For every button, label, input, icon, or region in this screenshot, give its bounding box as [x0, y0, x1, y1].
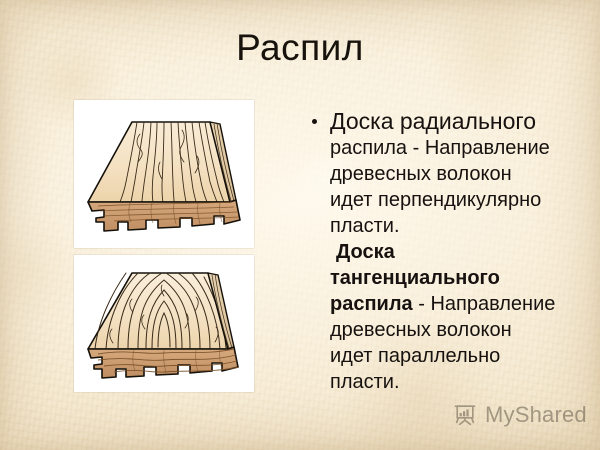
- body-line-3: древесных волокон: [330, 161, 594, 187]
- bullet-dot-icon: [312, 119, 317, 124]
- bullet-paragraph: Доска радиального распила - Направление …: [308, 108, 594, 395]
- body-line-1: Доска радиального: [330, 108, 594, 135]
- page-title: Распил: [0, 26, 600, 70]
- body-line-11: пласти.: [330, 369, 594, 395]
- watermark: MyShared: [452, 402, 587, 428]
- body-line-2: распила - Направление: [330, 135, 594, 161]
- tangential-board-illustration: [74, 255, 254, 392]
- body-line-7-bold: тангенциального: [330, 267, 500, 289]
- body-line-6: Доска: [330, 239, 594, 265]
- image-radial-sawn-board: [74, 100, 254, 248]
- slide-canvas: Распил: [0, 0, 600, 450]
- body-line-8: распила - Направление: [330, 291, 594, 317]
- body-text-block: Доска радиального распила - Направление …: [308, 108, 594, 395]
- body-line-9: древесных волокон: [330, 317, 594, 343]
- body-line-8-bold: распила: [330, 293, 413, 315]
- presentation-chart-icon: [452, 402, 478, 428]
- body-line-10: идет параллельно: [330, 343, 594, 369]
- image-tangential-sawn-board: [74, 255, 254, 392]
- radial-board-illustration: [74, 100, 254, 248]
- body-line-7: тангенциального: [330, 265, 594, 291]
- body-line-6-bold: Доска: [336, 241, 395, 263]
- watermark-label: MyShared: [485, 403, 587, 427]
- body-line-8-rest: - Направление: [413, 293, 556, 315]
- body-line-4: идет перпендикулярно: [330, 187, 594, 213]
- body-line-5: пласти.: [330, 213, 594, 239]
